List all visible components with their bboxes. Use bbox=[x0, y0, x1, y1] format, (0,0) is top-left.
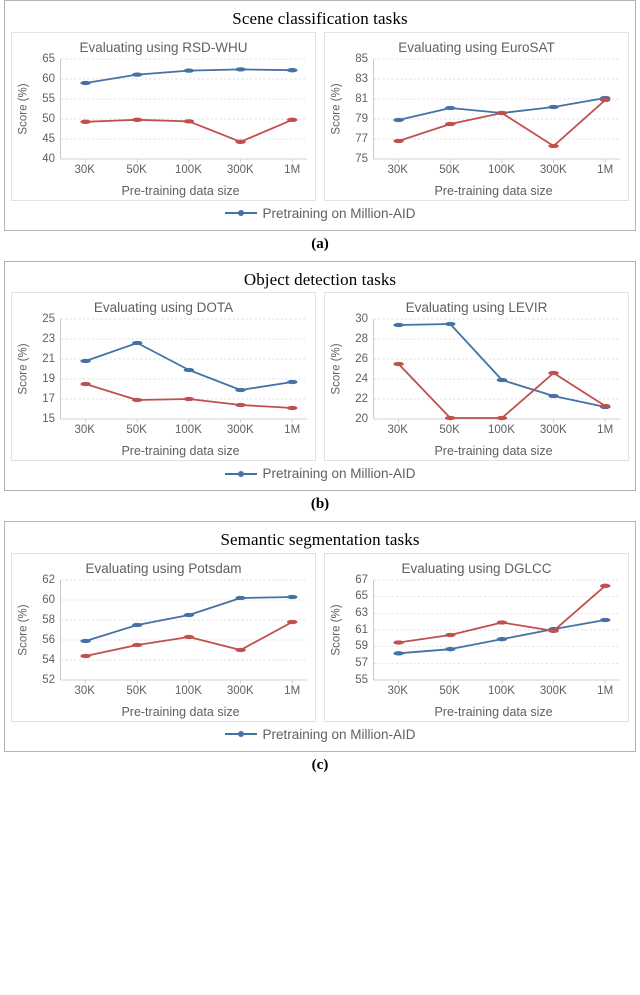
x-axis-ticks: 30K50K100K300K1M bbox=[373, 161, 620, 179]
y-tick-label: 85 bbox=[355, 53, 368, 65]
series-red bbox=[394, 98, 610, 148]
plot-area bbox=[60, 59, 307, 159]
chart-card: Evaluating using EuroSATScore (%)7577798… bbox=[324, 32, 629, 201]
x-tick-label: 300K bbox=[540, 164, 567, 176]
data-point bbox=[549, 394, 558, 398]
legend-label: Pretraining on Million-AID bbox=[262, 206, 415, 221]
series-line bbox=[399, 98, 606, 120]
panel-c: Semantic segmentation tasksEvaluating us… bbox=[4, 521, 636, 782]
y-axis-label: Score (%) bbox=[16, 319, 32, 419]
x-axis-label: Pre-training data size bbox=[361, 702, 626, 719]
y-axis-ticks: 525456586062 bbox=[32, 580, 58, 680]
plot-area bbox=[373, 319, 620, 419]
panel-caption: (a) bbox=[4, 231, 636, 261]
data-point bbox=[288, 68, 297, 72]
y-tick-label: 21 bbox=[42, 353, 55, 365]
y-tick-label: 24 bbox=[355, 373, 368, 385]
y-axis-label: Score (%) bbox=[329, 319, 345, 419]
y-tick-label: 55 bbox=[42, 93, 55, 105]
data-point bbox=[549, 105, 558, 109]
x-axis-label: Pre-training data size bbox=[361, 441, 626, 458]
data-point bbox=[184, 68, 193, 72]
y-axis-ticks: 151719212325 bbox=[32, 319, 58, 419]
y-tick-label: 55 bbox=[355, 674, 368, 686]
y-tick-label: 57 bbox=[355, 657, 368, 669]
plot-wrapper: Score (%)52545658606230K50K100K300K1M bbox=[16, 580, 307, 702]
data-point bbox=[446, 647, 455, 651]
panel-box: Semantic segmentation tasksEvaluating us… bbox=[4, 521, 636, 752]
data-point bbox=[184, 613, 193, 617]
data-point bbox=[133, 398, 142, 402]
data-point bbox=[81, 639, 90, 643]
y-tick-label: 40 bbox=[42, 153, 55, 165]
panel-box: Scene classification tasksEvaluating usi… bbox=[4, 0, 636, 231]
data-point bbox=[549, 629, 558, 633]
y-axis-label-text: Score (%) bbox=[18, 604, 30, 655]
x-axis-ticks: 30K50K100K300K1M bbox=[373, 421, 620, 439]
x-tick-label: 30K bbox=[387, 424, 407, 436]
plot-wrapper: Score (%)40455055606530K50K100K300K1M bbox=[16, 59, 307, 181]
data-point bbox=[446, 322, 455, 326]
y-tick-label: 83 bbox=[355, 73, 368, 85]
y-tick-label: 22 bbox=[355, 393, 368, 405]
data-point bbox=[446, 122, 455, 126]
chart-card: Evaluating using DOTAScore (%)1517192123… bbox=[11, 292, 316, 461]
charts-row: Evaluating using PotsdamScore (%)5254565… bbox=[11, 553, 629, 722]
legend-label: Pretraining on Million-AID bbox=[262, 466, 415, 481]
y-tick-label: 65 bbox=[355, 590, 368, 602]
x-tick-label: 1M bbox=[597, 424, 613, 436]
data-point bbox=[288, 117, 297, 121]
y-tick-label: 50 bbox=[42, 113, 55, 125]
plot-svg bbox=[61, 580, 307, 680]
x-tick-label: 300K bbox=[227, 685, 254, 697]
data-point bbox=[601, 584, 610, 588]
figure-page: Scene classification tasksEvaluating usi… bbox=[0, 0, 640, 995]
y-tick-label: 15 bbox=[42, 413, 55, 425]
data-point bbox=[133, 643, 142, 647]
plot-area bbox=[373, 580, 620, 680]
line-marker-icon bbox=[224, 468, 258, 480]
y-tick-label: 75 bbox=[355, 153, 368, 165]
x-tick-label: 30K bbox=[74, 685, 94, 697]
series-line bbox=[86, 343, 293, 390]
chart-card: Evaluating using PotsdamScore (%)5254565… bbox=[11, 553, 316, 722]
series-red bbox=[81, 620, 297, 658]
y-tick-label: 67 bbox=[355, 574, 368, 586]
x-axis-ticks: 30K50K100K300K1M bbox=[60, 161, 307, 179]
y-tick-label: 59 bbox=[355, 640, 368, 652]
chart-title: Evaluating using Potsdam bbox=[14, 558, 313, 578]
y-tick-label: 60 bbox=[42, 73, 55, 85]
data-point bbox=[81, 382, 90, 386]
x-axis-label: Pre-training data size bbox=[48, 702, 313, 719]
line-marker-icon bbox=[224, 728, 258, 740]
chart-card: Evaluating using LEVIRScore (%)202224262… bbox=[324, 292, 629, 461]
y-axis-ticks: 404550556065 bbox=[32, 59, 58, 159]
y-tick-label: 19 bbox=[42, 373, 55, 385]
series-blue bbox=[81, 67, 297, 84]
data-point bbox=[446, 416, 455, 420]
data-point bbox=[394, 118, 403, 122]
x-tick-label: 30K bbox=[74, 164, 94, 176]
y-tick-label: 23 bbox=[42, 333, 55, 345]
data-point bbox=[184, 635, 193, 639]
data-point bbox=[446, 633, 455, 637]
y-tick-label: 17 bbox=[42, 393, 55, 405]
y-tick-label: 30 bbox=[355, 313, 368, 325]
y-axis-label-text: Score (%) bbox=[18, 83, 30, 134]
data-point bbox=[236, 648, 245, 652]
chart-legend: Pretraining on Million-AID bbox=[11, 722, 629, 745]
y-tick-label: 65 bbox=[42, 53, 55, 65]
y-tick-label: 81 bbox=[355, 93, 368, 105]
line-marker-icon bbox=[224, 207, 258, 219]
chart-card: Evaluating using RSD-WHUScore (%)4045505… bbox=[11, 32, 316, 201]
x-axis-label: Pre-training data size bbox=[48, 441, 313, 458]
y-tick-label: 56 bbox=[42, 634, 55, 646]
data-point bbox=[184, 368, 193, 372]
data-point bbox=[497, 416, 506, 420]
plot-svg bbox=[61, 319, 307, 419]
data-point bbox=[601, 404, 610, 408]
legend-label: Pretraining on Million-AID bbox=[262, 727, 415, 742]
y-tick-label: 60 bbox=[42, 594, 55, 606]
panel-title: Scene classification tasks bbox=[11, 5, 629, 32]
data-point bbox=[394, 640, 403, 644]
y-tick-label: 62 bbox=[42, 574, 55, 586]
x-tick-label: 100K bbox=[175, 424, 202, 436]
chart-legend: Pretraining on Million-AID bbox=[11, 461, 629, 484]
y-axis-ticks: 202224262830 bbox=[345, 319, 371, 419]
data-point bbox=[497, 637, 506, 641]
plot-svg bbox=[374, 580, 620, 680]
data-point bbox=[601, 98, 610, 102]
x-tick-label: 50K bbox=[126, 685, 146, 697]
panel-caption: (b) bbox=[4, 491, 636, 521]
data-point bbox=[81, 119, 90, 123]
series-blue bbox=[394, 96, 610, 122]
charts-row: Evaluating using RSD-WHUScore (%)4045505… bbox=[11, 32, 629, 201]
plot-area bbox=[60, 580, 307, 680]
series-line bbox=[399, 620, 606, 653]
x-tick-label: 100K bbox=[488, 685, 515, 697]
x-tick-label: 30K bbox=[387, 685, 407, 697]
y-axis-label-text: Score (%) bbox=[18, 344, 30, 395]
plot-area bbox=[373, 59, 620, 159]
data-point bbox=[236, 139, 245, 143]
x-tick-label: 1M bbox=[597, 164, 613, 176]
panel-caption: (c) bbox=[4, 752, 636, 782]
x-tick-label: 1M bbox=[284, 424, 300, 436]
data-point bbox=[133, 117, 142, 121]
data-point bbox=[394, 651, 403, 655]
plot-svg bbox=[374, 319, 620, 419]
x-axis-label: Pre-training data size bbox=[361, 181, 626, 198]
data-point bbox=[549, 144, 558, 148]
panel-list: Scene classification tasksEvaluating usi… bbox=[0, 0, 640, 782]
y-tick-label: 20 bbox=[355, 413, 368, 425]
y-tick-label: 52 bbox=[42, 674, 55, 686]
data-point bbox=[81, 654, 90, 658]
series-red bbox=[81, 117, 297, 143]
panel-a: Scene classification tasksEvaluating usi… bbox=[4, 0, 636, 261]
x-tick-label: 50K bbox=[439, 685, 459, 697]
y-axis-label-text: Score (%) bbox=[331, 344, 343, 395]
x-axis-ticks: 30K50K100K300K1M bbox=[60, 682, 307, 700]
data-point bbox=[394, 139, 403, 143]
data-point bbox=[288, 620, 297, 624]
y-tick-label: 45 bbox=[42, 133, 55, 145]
data-point bbox=[184, 397, 193, 401]
series-blue bbox=[81, 341, 297, 392]
series-line bbox=[86, 597, 293, 641]
data-point bbox=[236, 403, 245, 407]
series-line bbox=[399, 364, 606, 418]
plot-wrapper: Score (%)75777981838530K50K100K300K1M bbox=[329, 59, 620, 181]
data-point bbox=[133, 623, 142, 627]
x-tick-label: 300K bbox=[227, 164, 254, 176]
chart-title: Evaluating using EuroSAT bbox=[327, 37, 626, 57]
x-tick-label: 50K bbox=[126, 164, 146, 176]
data-point bbox=[288, 380, 297, 384]
plot-wrapper: Score (%)20222426283030K50K100K300K1M bbox=[329, 319, 620, 441]
y-axis-ticks: 757779818385 bbox=[345, 59, 371, 159]
panel-box: Object detection tasksEvaluating using D… bbox=[4, 261, 636, 492]
series-red bbox=[394, 362, 610, 420]
data-point bbox=[81, 81, 90, 85]
data-point bbox=[497, 620, 506, 624]
y-axis-label-text: Score (%) bbox=[331, 83, 343, 134]
series-line bbox=[399, 324, 606, 407]
data-point bbox=[446, 106, 455, 110]
x-tick-label: 1M bbox=[284, 164, 300, 176]
chart-title: Evaluating using DGLCC bbox=[327, 558, 626, 578]
series-blue bbox=[394, 322, 610, 409]
x-tick-label: 100K bbox=[175, 164, 202, 176]
y-tick-label: 25 bbox=[42, 313, 55, 325]
data-point bbox=[288, 595, 297, 599]
x-tick-label: 100K bbox=[175, 685, 202, 697]
x-tick-label: 300K bbox=[540, 424, 567, 436]
data-point bbox=[236, 596, 245, 600]
series-line bbox=[399, 585, 606, 642]
data-point bbox=[497, 378, 506, 382]
data-point bbox=[184, 119, 193, 123]
x-tick-label: 30K bbox=[74, 424, 94, 436]
chart-title: Evaluating using LEVIR bbox=[327, 297, 626, 317]
x-tick-label: 50K bbox=[126, 424, 146, 436]
y-tick-label: 63 bbox=[355, 607, 368, 619]
data-point bbox=[236, 67, 245, 71]
x-tick-label: 100K bbox=[488, 424, 515, 436]
data-point bbox=[288, 406, 297, 410]
plot-area bbox=[60, 319, 307, 419]
x-tick-label: 1M bbox=[597, 685, 613, 697]
plot-svg bbox=[61, 59, 307, 159]
data-point bbox=[601, 618, 610, 622]
y-axis-label-text: Score (%) bbox=[331, 604, 343, 655]
x-tick-label: 300K bbox=[227, 424, 254, 436]
x-tick-label: 50K bbox=[439, 424, 459, 436]
data-point bbox=[236, 388, 245, 392]
x-tick-label: 50K bbox=[439, 164, 459, 176]
panel-title: Semantic segmentation tasks bbox=[11, 526, 629, 553]
data-point bbox=[497, 111, 506, 115]
data-point bbox=[133, 72, 142, 76]
chart-card: Evaluating using DGLCCScore (%)555759616… bbox=[324, 553, 629, 722]
y-axis-label: Score (%) bbox=[16, 59, 32, 159]
plot-wrapper: Score (%)5557596163656730K50K100K300K1M bbox=[329, 580, 620, 702]
y-tick-label: 54 bbox=[42, 654, 55, 666]
x-tick-label: 300K bbox=[540, 685, 567, 697]
x-tick-label: 30K bbox=[387, 164, 407, 176]
y-tick-label: 58 bbox=[42, 614, 55, 626]
y-tick-label: 26 bbox=[355, 353, 368, 365]
data-point bbox=[394, 323, 403, 327]
y-axis-label: Score (%) bbox=[16, 580, 32, 680]
y-axis-ticks: 55575961636567 bbox=[345, 580, 371, 680]
x-tick-label: 100K bbox=[488, 164, 515, 176]
data-point bbox=[549, 371, 558, 375]
panel-title: Object detection tasks bbox=[11, 266, 629, 293]
chart-title: Evaluating using DOTA bbox=[14, 297, 313, 317]
data-point bbox=[133, 341, 142, 345]
chart-legend: Pretraining on Million-AID bbox=[11, 201, 629, 224]
series-red bbox=[394, 584, 610, 644]
charts-row: Evaluating using DOTAScore (%)1517192123… bbox=[11, 292, 629, 461]
chart-title: Evaluating using RSD-WHU bbox=[14, 37, 313, 57]
y-axis-label: Score (%) bbox=[329, 580, 345, 680]
panel-b: Object detection tasksEvaluating using D… bbox=[4, 261, 636, 522]
x-axis-ticks: 30K50K100K300K1M bbox=[373, 682, 620, 700]
y-tick-label: 61 bbox=[355, 624, 368, 636]
plot-wrapper: Score (%)15171921232530K50K100K300K1M bbox=[16, 319, 307, 441]
plot-svg bbox=[374, 59, 620, 159]
y-tick-label: 77 bbox=[355, 133, 368, 145]
data-point bbox=[394, 362, 403, 366]
y-axis-label: Score (%) bbox=[329, 59, 345, 159]
data-point bbox=[81, 359, 90, 363]
y-tick-label: 79 bbox=[355, 113, 368, 125]
x-axis-ticks: 30K50K100K300K1M bbox=[60, 421, 307, 439]
x-tick-label: 1M bbox=[284, 685, 300, 697]
y-tick-label: 28 bbox=[355, 333, 368, 345]
x-axis-label: Pre-training data size bbox=[48, 181, 313, 198]
